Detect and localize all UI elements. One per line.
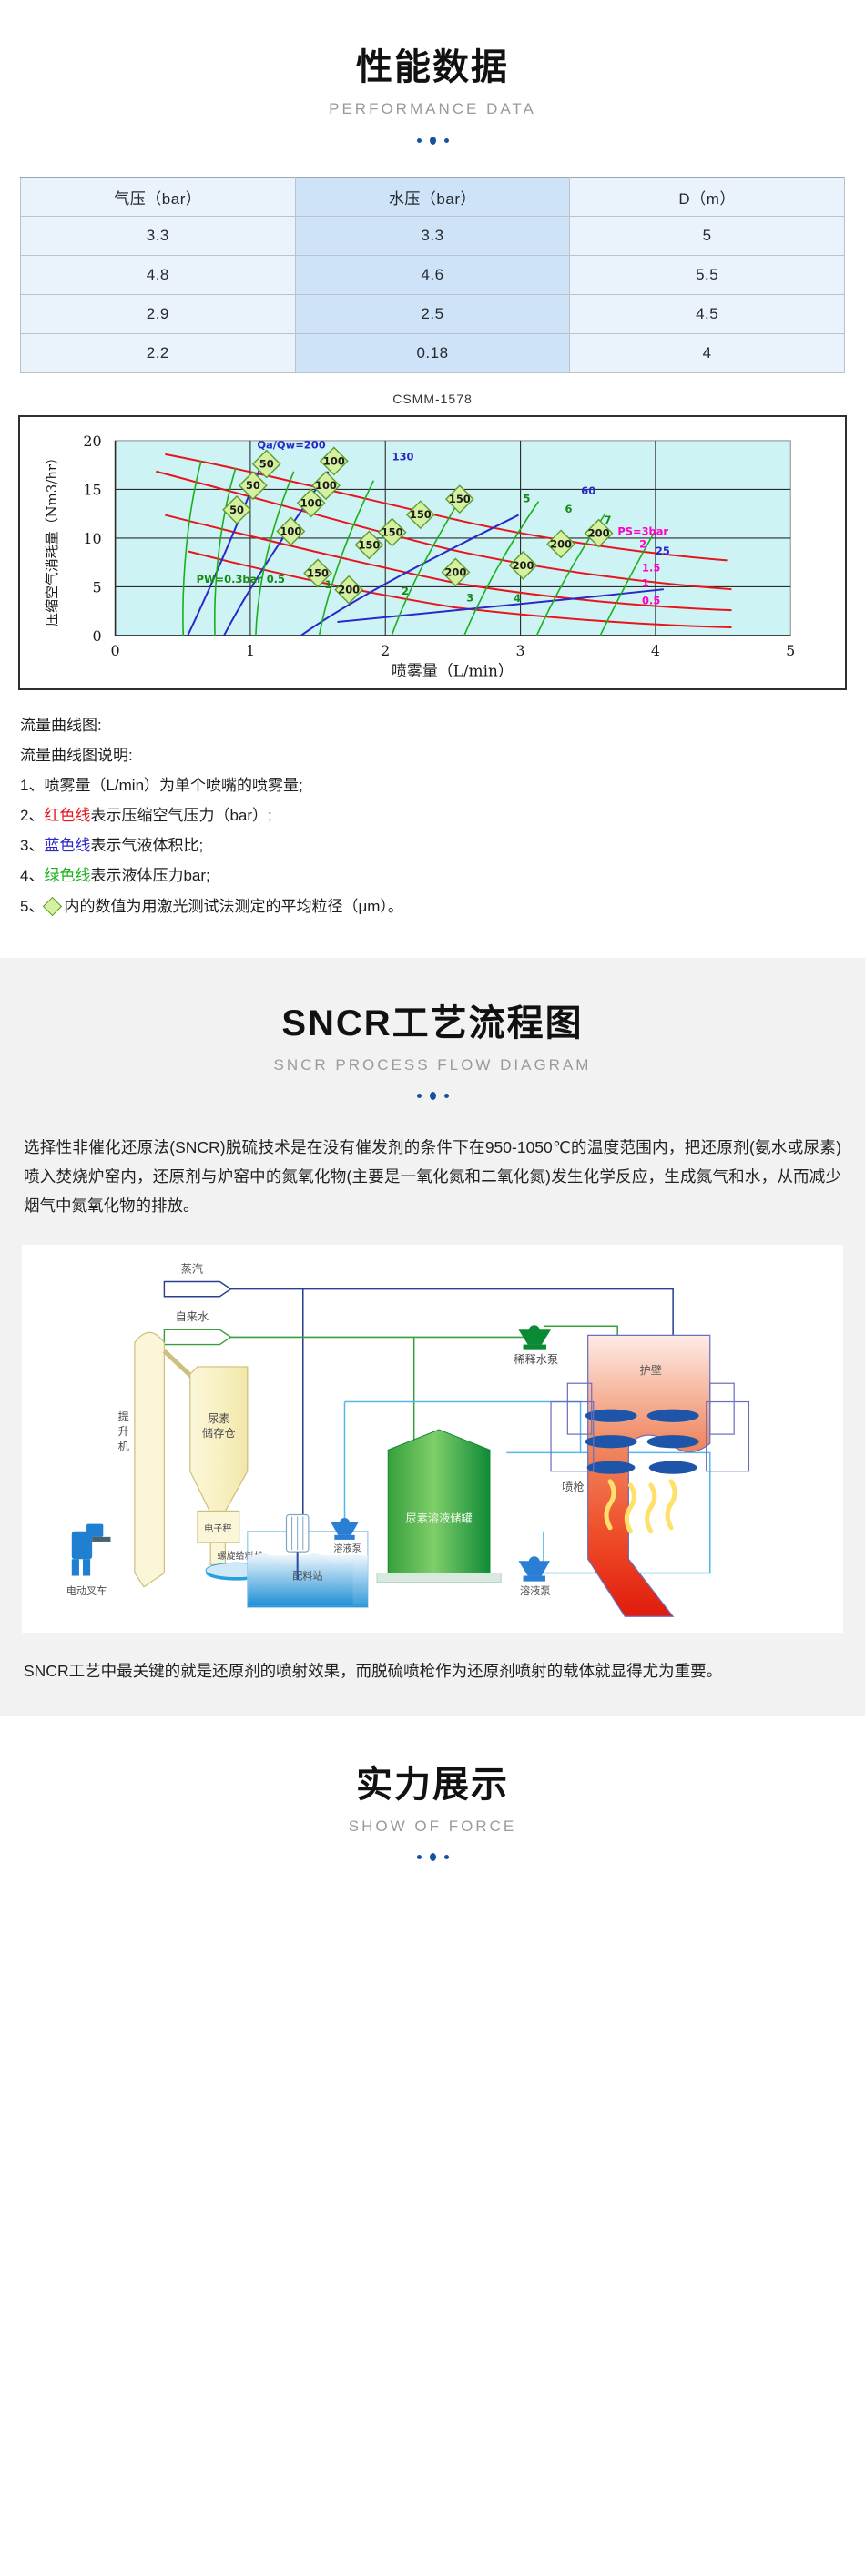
label-furnace-wall: 护壁 bbox=[640, 1363, 662, 1377]
table-header-row: 气压（bar） 水压（bar） D（m） bbox=[21, 178, 845, 217]
legend-text: 表示液体压力bar; bbox=[90, 867, 209, 884]
cell-water-pressure: 4.6 bbox=[295, 256, 570, 295]
chart-annotation: 2 bbox=[402, 585, 409, 597]
chart-annotation: 0.5 bbox=[267, 573, 285, 585]
chart-annotation: 25 bbox=[656, 545, 670, 557]
performance-section: 性能数据 PERFORMANCE DATA 气压（bar） 水压（bar） D（… bbox=[0, 0, 865, 958]
dot-2 bbox=[430, 1853, 436, 1861]
chart-y-tick: 10 bbox=[83, 530, 101, 547]
legend-item-5: 5、内的数值为用激光测试法测定的平均粒径（μm）。 bbox=[20, 891, 845, 921]
cell-air-pressure: 3.3 bbox=[21, 217, 296, 256]
legend-index: 3、 bbox=[20, 837, 44, 854]
sncr-subtitle: SNCR PROCESS FLOW DIAGRAM bbox=[0, 1056, 865, 1074]
electric-forklift: 电动叉车 bbox=[66, 1523, 111, 1596]
label-urea-solution-tank: 尿素溶液储罐 bbox=[406, 1511, 473, 1524]
chart-y-tick: 15 bbox=[83, 481, 101, 498]
cell-water-pressure: 2.5 bbox=[295, 295, 570, 334]
svg-text:机: 机 bbox=[118, 1440, 129, 1452]
chart-y-tick: 20 bbox=[83, 433, 101, 450]
force-title: 实力展示 bbox=[0, 1763, 865, 1807]
dot-3 bbox=[444, 138, 449, 143]
cell-air-pressure: 4.8 bbox=[21, 256, 296, 295]
svg-text:50: 50 bbox=[259, 458, 274, 471]
chart-y-axis-label: 压缩空气消耗量（Nm3/hr） bbox=[44, 451, 60, 626]
legend-heading-2: 流量曲线图说明: bbox=[20, 740, 845, 770]
chart-x-tick: 5 bbox=[786, 642, 795, 659]
performance-table: 气压（bar） 水压（bar） D（m） 3.3 3.3 5 4.8 4.6 5… bbox=[20, 177, 845, 373]
legend-text: 喷雾量（L/min）为单个喷嘴的喷雾量; bbox=[44, 777, 302, 794]
column-header-air-pressure: 气压（bar） bbox=[21, 178, 296, 217]
sncr-title: SNCR工艺流程图 bbox=[0, 1002, 865, 1045]
chart-x-tick: 4 bbox=[651, 642, 660, 659]
legend-item-1: 1、喷雾量（L/min）为单个喷嘴的喷雾量; bbox=[20, 770, 845, 800]
sncr-header: SNCR工艺流程图 SNCR PROCESS FLOW DIAGRAM bbox=[0, 989, 865, 1102]
table-row: 4.8 4.6 5.5 bbox=[21, 256, 845, 295]
solution-pump-top: 溶液泵 bbox=[331, 1518, 361, 1554]
chart-x-tick: 0 bbox=[111, 642, 120, 659]
dots-divider bbox=[0, 135, 865, 146]
chart-annotation: 1 bbox=[324, 578, 331, 591]
chart-annotation: 6 bbox=[565, 503, 573, 515]
flow-curve-chart-frame: 5050501001001001001501501501501502002002… bbox=[18, 415, 847, 690]
svg-text:100: 100 bbox=[323, 454, 345, 467]
dot-3 bbox=[444, 1094, 449, 1098]
dot-1 bbox=[417, 1855, 422, 1859]
dot-1 bbox=[417, 1094, 422, 1098]
label-electric-forklift: 电动叉车 bbox=[66, 1584, 107, 1597]
page-title: 性能数据 bbox=[0, 46, 865, 89]
dots-divider bbox=[0, 1852, 865, 1863]
legend-swatch-green: 绿色线 bbox=[44, 867, 90, 884]
label-dilution-pump: 稀释水泵 bbox=[514, 1353, 558, 1366]
chart-x-tick: 1 bbox=[246, 642, 255, 659]
svg-text:50: 50 bbox=[246, 479, 260, 492]
dot-2 bbox=[430, 137, 436, 145]
cell-air-pressure: 2.9 bbox=[21, 295, 296, 334]
legend-index: 5、 bbox=[20, 898, 44, 915]
table-row: 3.3 3.3 5 bbox=[21, 217, 845, 256]
svg-text:200: 200 bbox=[550, 537, 572, 550]
urea-storage-silo: 尿素 储存仓 bbox=[190, 1367, 248, 1513]
chart-annotation: 1 bbox=[642, 576, 649, 589]
column-header-water-pressure: 水压（bar） bbox=[295, 178, 570, 217]
label-urea-silo: 尿素 bbox=[208, 1412, 229, 1425]
svg-text:100: 100 bbox=[315, 479, 337, 492]
cell-water-pressure: 3.3 bbox=[295, 217, 570, 256]
chart-annotation: 5 bbox=[524, 492, 531, 504]
chart-annotation: 0.5 bbox=[642, 595, 660, 607]
dot-1 bbox=[417, 138, 422, 143]
chart-annotation: 4 bbox=[514, 592, 521, 605]
label-steam: 蒸汽 bbox=[181, 1261, 203, 1275]
chart-x-tick: 3 bbox=[516, 642, 525, 659]
svg-text:200: 200 bbox=[513, 559, 534, 572]
force-subtitle: SHOW OF FORCE bbox=[0, 1817, 865, 1836]
furnace: 护壁 bbox=[551, 1335, 748, 1616]
column-header-diameter: D（m） bbox=[570, 178, 845, 217]
dot-2 bbox=[430, 1092, 436, 1100]
solution-pump-bottom: 溶液泵 bbox=[518, 1556, 550, 1597]
force-header: 实力展示 SHOW OF FORCE bbox=[0, 1763, 865, 1863]
legend-text: 表示压缩空气压力（bar）; bbox=[90, 807, 271, 824]
svg-text:50: 50 bbox=[229, 504, 244, 516]
sncr-flow-diagram-card: 蒸汽 自来水 稀释水泵 提 升 机 bbox=[22, 1245, 843, 1633]
chart-annotation: 2 bbox=[639, 538, 646, 551]
page-subtitle: PERFORMANCE DATA bbox=[0, 100, 865, 118]
svg-text:150: 150 bbox=[358, 538, 380, 551]
cell-diameter: 4.5 bbox=[570, 295, 845, 334]
chart-caption: CSMM-1578 bbox=[0, 373, 865, 415]
table-row: 2.2 0.18 4 bbox=[21, 334, 845, 373]
chart-annotation: 7 bbox=[605, 514, 612, 526]
legend-index: 4、 bbox=[20, 867, 44, 884]
table-row: 2.9 2.5 4.5 bbox=[21, 295, 845, 334]
performance-header: 性能数据 PERFORMANCE DATA bbox=[0, 25, 865, 146]
cell-air-pressure: 2.2 bbox=[21, 334, 296, 373]
svg-text:100: 100 bbox=[280, 524, 301, 537]
legend-swatch-red: 红色线 bbox=[44, 807, 90, 824]
legend-swatch-blue: 蓝色线 bbox=[44, 837, 90, 854]
diamond-marker-icon bbox=[43, 896, 62, 915]
chart-annotation: 130 bbox=[392, 450, 414, 463]
chart-annotation: Qa/Qw=200 bbox=[257, 438, 325, 451]
chart-x-tick: 2 bbox=[381, 642, 390, 659]
legend-text: 内的数值为用激光测试法测定的平均粒径（μm）。 bbox=[64, 898, 402, 915]
svg-text:200: 200 bbox=[588, 527, 610, 540]
chart-y-tick: 5 bbox=[93, 578, 102, 596]
cell-water-pressure: 0.18 bbox=[295, 334, 570, 373]
elevator: 提 升 机 bbox=[118, 1332, 194, 1586]
legend-item-3: 3、蓝色线表示气液体积比; bbox=[20, 830, 845, 860]
chart-annotation: PS=3bar bbox=[617, 525, 668, 538]
sncr-flow-diagram: 蒸汽 自来水 稀释水泵 提 升 机 bbox=[25, 1254, 840, 1624]
chart-annotation: PW=0.3bar bbox=[197, 573, 263, 585]
cell-diameter: 5 bbox=[570, 217, 845, 256]
chart-annotation: 1.5 bbox=[642, 561, 660, 574]
svg-text:150: 150 bbox=[449, 493, 471, 505]
chart-annotation: 3 bbox=[466, 591, 473, 604]
label-tap-water: 自来水 bbox=[176, 1310, 209, 1323]
tap-water-inlet: 自来水 bbox=[164, 1310, 230, 1344]
sncr-section: SNCR工艺流程图 SNCR PROCESS FLOW DIAGRAM 选择性非… bbox=[0, 958, 865, 1716]
legend-text: 表示气液体积比; bbox=[90, 837, 203, 854]
svg-text:150: 150 bbox=[410, 508, 432, 521]
svg-text:储存仓: 储存仓 bbox=[202, 1426, 236, 1440]
dots-divider bbox=[0, 1091, 865, 1102]
svg-text:150: 150 bbox=[382, 525, 403, 538]
legend-index: 1、 bbox=[20, 777, 44, 794]
legend-item-4: 4、绿色线表示液体压力bar; bbox=[20, 860, 845, 891]
label-solution-pump-top: 溶液泵 bbox=[333, 1543, 361, 1554]
dilution-water-pump: 稀释水泵 bbox=[514, 1325, 558, 1366]
sncr-description: 选择性非催化还原法(SNCR)脱硫技术是在没有催发剂的条件下在950-1050℃… bbox=[0, 1102, 865, 1221]
performance-table-wrap: 气压（bar） 水压（bar） D（m） 3.3 3.3 5 4.8 4.6 5… bbox=[0, 146, 865, 373]
dot-3 bbox=[444, 1855, 449, 1859]
cell-diameter: 4 bbox=[570, 334, 845, 373]
cell-diameter: 5.5 bbox=[570, 256, 845, 295]
steam-inlet: 蒸汽 bbox=[164, 1261, 230, 1296]
svg-text:升: 升 bbox=[118, 1425, 129, 1438]
label-spray-gun: 喷枪 bbox=[562, 1480, 584, 1493]
flow-curve-chart: 5050501001001001001501501501501502002002… bbox=[29, 424, 836, 683]
label-electronic-scale: 电子秤 bbox=[204, 1522, 231, 1534]
svg-text:200: 200 bbox=[338, 584, 360, 596]
label-solution-pump-bottom: 溶液泵 bbox=[520, 1584, 550, 1597]
urea-solution-tank: 尿素溶液储罐 bbox=[377, 1430, 501, 1583]
flow-curve-legend: 流量曲线图: 流量曲线图说明: 1、喷雾量（L/min）为单个喷嘴的喷雾量; 2… bbox=[0, 690, 865, 958]
page-root: 性能数据 PERFORMANCE DATA 气压（bar） 水压（bar） D（… bbox=[0, 0, 865, 1899]
force-section: 实力展示 SHOW OF FORCE bbox=[0, 1716, 865, 1899]
legend-item-2: 2、红色线表示压缩空气压力（bar）; bbox=[20, 800, 845, 830]
svg-text:200: 200 bbox=[444, 565, 466, 578]
legend-heading-1: 流量曲线图: bbox=[20, 710, 845, 740]
legend-index: 2、 bbox=[20, 807, 44, 824]
sncr-footer-text: SNCR工艺中最关键的就是还原剂的喷射效果，而脱硫喷枪作为还原剂喷射的载体就显得… bbox=[0, 1633, 865, 1691]
chart-annotation: 60 bbox=[581, 484, 595, 497]
svg-text:100: 100 bbox=[300, 496, 322, 509]
chart-y-tick: 0 bbox=[93, 627, 102, 645]
label-elevator: 提 bbox=[118, 1410, 129, 1423]
chart-x-axis-label: 喷雾量（L/min） bbox=[392, 662, 514, 680]
